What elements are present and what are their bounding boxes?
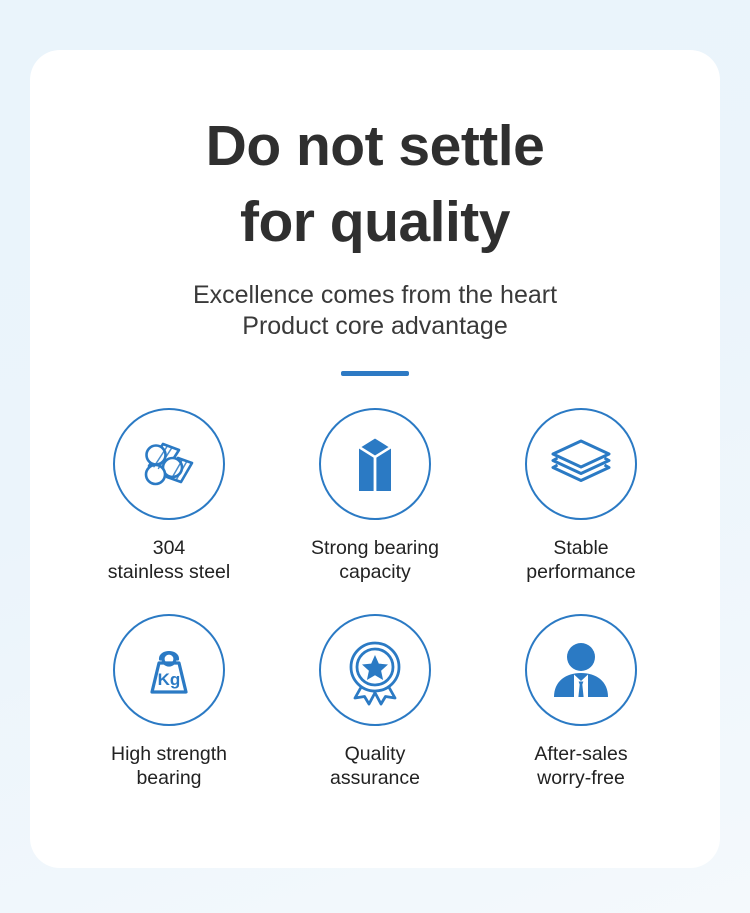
feature-item-bearing-capacity[interactable]: Strong bearing capacity: [272, 408, 478, 584]
page-title: Do not settle for quality: [30, 50, 720, 260]
icon-circle: [113, 408, 225, 520]
icon-circle: [525, 614, 637, 726]
icon-circle: [525, 408, 637, 520]
icon-circle: [319, 408, 431, 520]
steel-pipes-icon: [133, 428, 205, 500]
stacked-layers-icon: [544, 427, 618, 501]
svg-text:Kg: Kg: [158, 670, 181, 689]
support-agent-icon: [544, 633, 618, 707]
feature-label: Stable performance: [526, 537, 635, 584]
feature-item-stainless-steel[interactable]: 304 stainless steel: [66, 408, 272, 584]
feature-label: High strength bearing: [111, 743, 227, 790]
promo-page: Do not settle for quality Excellence com…: [0, 0, 750, 913]
feature-label: Strong bearing capacity: [311, 537, 439, 584]
page-subtitle: Excellence comes from the heart Product …: [30, 260, 720, 342]
icon-circle: Kg: [113, 614, 225, 726]
feature-label: 304 stainless steel: [108, 537, 230, 584]
feature-item-quality-assurance[interactable]: Quality assurance: [272, 614, 478, 790]
column-pillar-icon: [339, 428, 411, 500]
feature-row-2: Kg High strength bearing: [66, 614, 684, 790]
headline-line-2: for quality: [30, 184, 720, 260]
feature-label: Quality assurance: [330, 743, 420, 790]
feature-label: After-sales worry-free: [534, 743, 627, 790]
award-medal-icon: [339, 634, 411, 706]
feature-card: Do not settle for quality Excellence com…: [30, 50, 720, 868]
headline-line-1: Do not settle: [30, 108, 720, 184]
kg-weight-icon: Kg: [135, 636, 203, 704]
divider-container: [30, 342, 720, 381]
feature-row-1: 304 stainless steel Strong bearing capac…: [66, 408, 684, 584]
accent-divider: [341, 371, 409, 376]
feature-grid: 304 stainless steel Strong bearing capac…: [30, 381, 720, 790]
feature-item-after-sales[interactable]: After-sales worry-free: [478, 614, 684, 790]
feature-item-stable-performance[interactable]: Stable performance: [478, 408, 684, 584]
feature-item-high-strength[interactable]: Kg High strength bearing: [66, 614, 272, 790]
subtitle-line-2: Product core advantage: [30, 311, 720, 342]
icon-circle: [319, 614, 431, 726]
subtitle-line-1: Excellence comes from the heart: [30, 280, 720, 311]
